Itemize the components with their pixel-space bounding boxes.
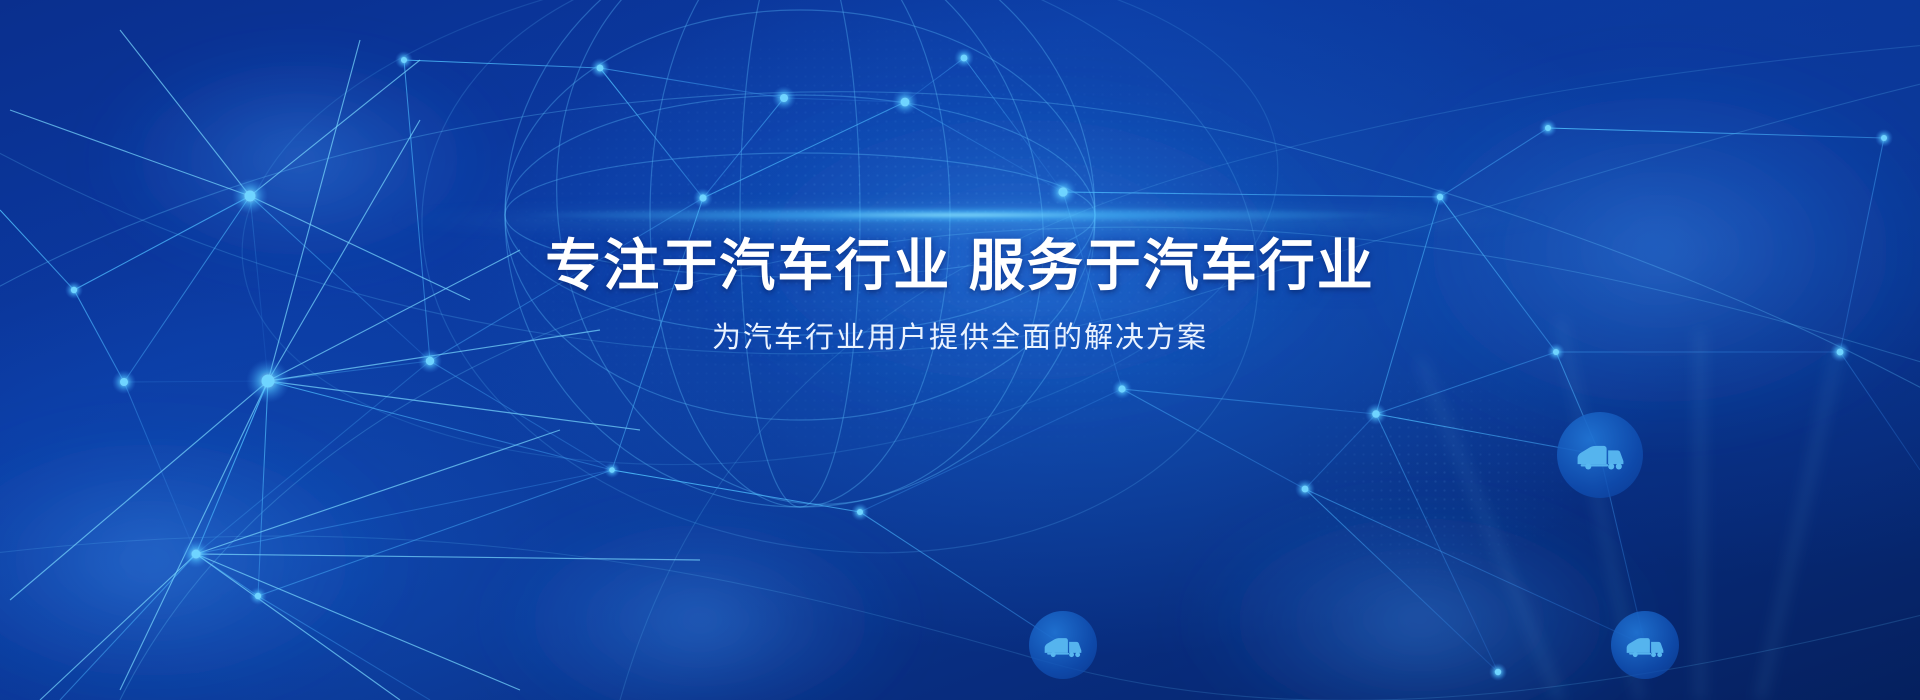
hero-banner: 专注于汽车行业 服务于汽车行业 为汽车行业用户提供全面的解决方案 <box>0 0 1920 700</box>
truck-badge-center-lower <box>1029 611 1097 679</box>
truck-icon <box>1573 438 1628 472</box>
truck-badge-right-upper <box>1557 412 1643 498</box>
truck-badge-right-lower <box>1611 611 1679 679</box>
truck-icon <box>1623 632 1667 659</box>
truck-icon <box>1041 632 1085 659</box>
truck-badge-layer <box>0 0 1920 700</box>
